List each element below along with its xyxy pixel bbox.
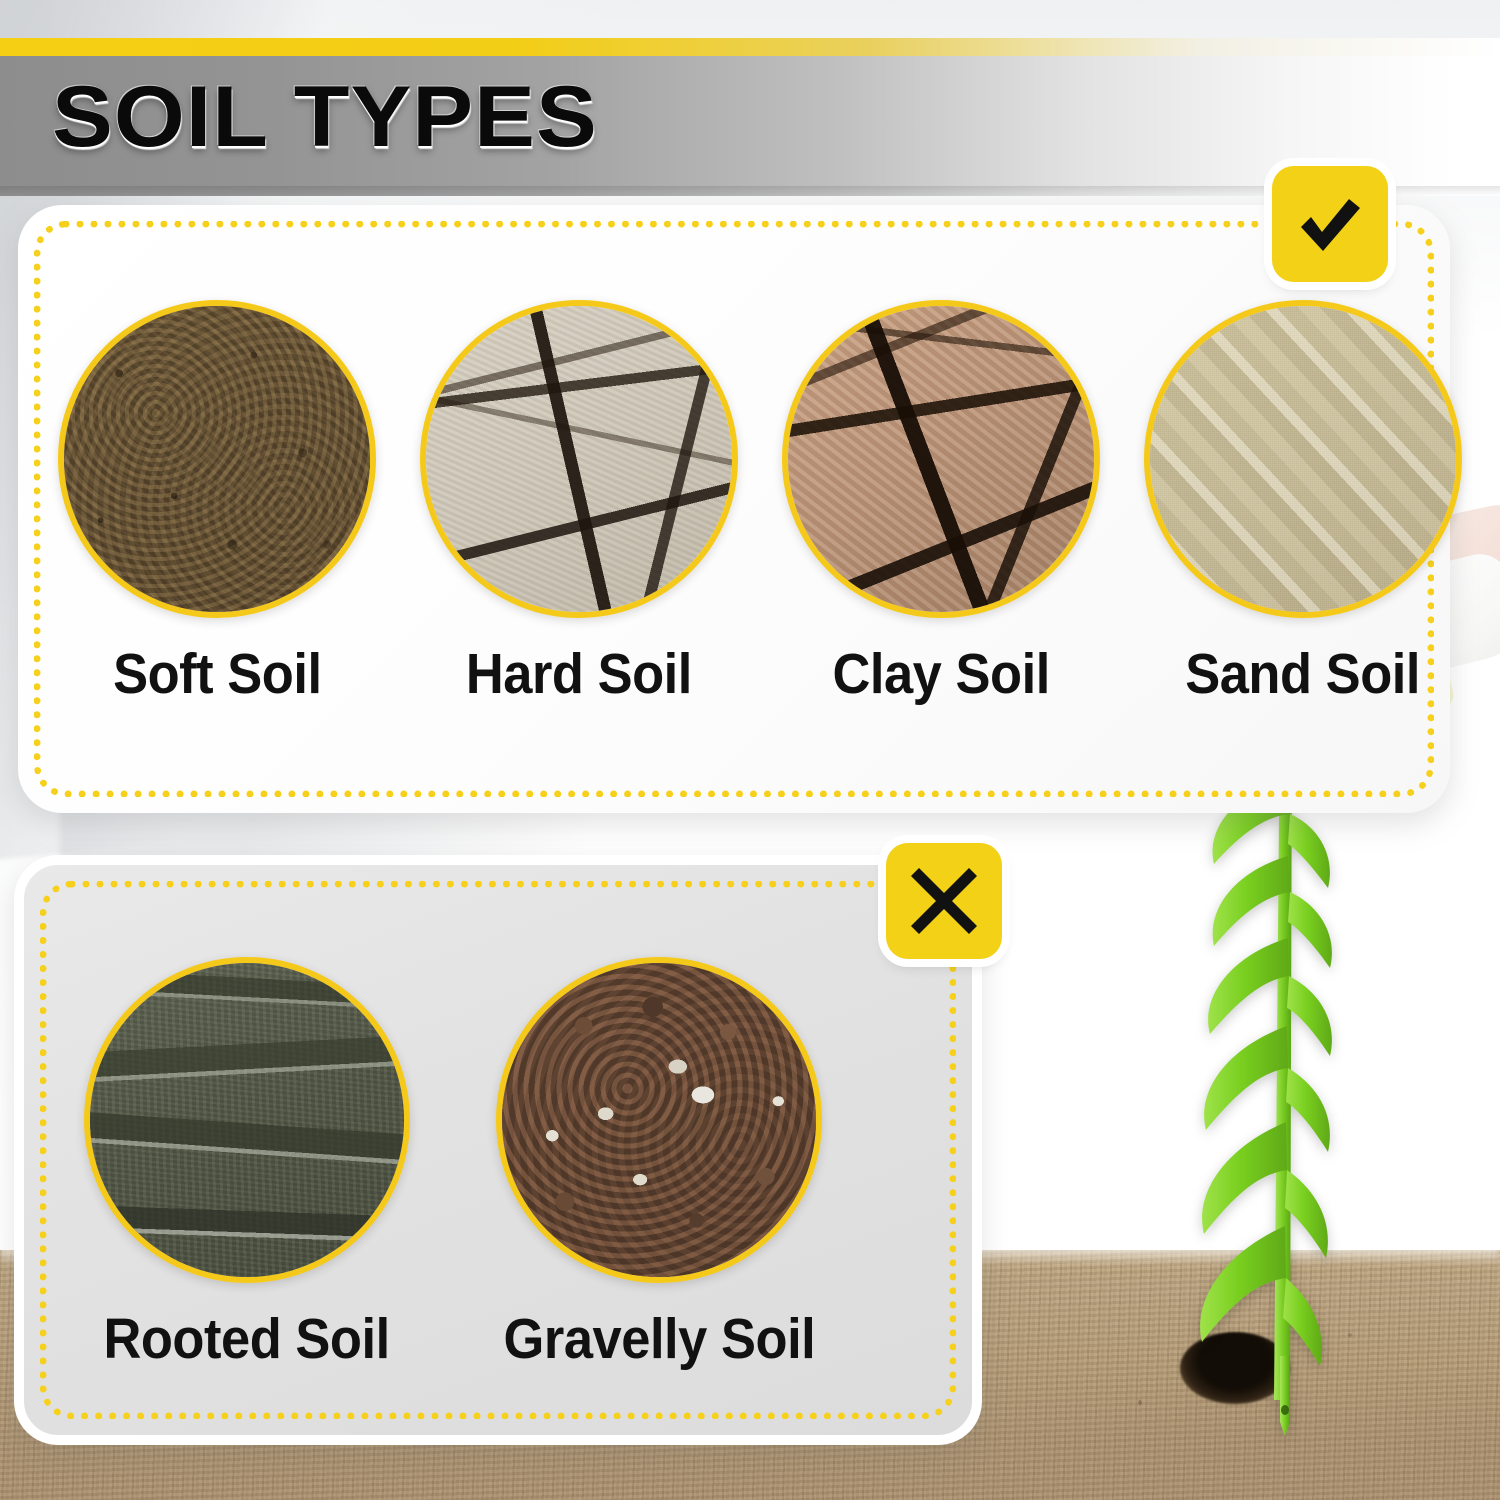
soil-label: Sand Soil xyxy=(1186,644,1421,704)
cross-badge xyxy=(886,843,1002,959)
rooted-soil-image xyxy=(84,957,410,1283)
soft-soil-image xyxy=(58,300,376,618)
check-icon xyxy=(1291,185,1369,263)
soil-label: Soft Soil xyxy=(113,644,322,704)
soil-label: Rooted Soil xyxy=(104,1309,390,1369)
soil-item-clay-soil[interactable]: Clay Soil xyxy=(782,300,1100,704)
clay-soil-image xyxy=(782,300,1100,618)
soil-item-soft-soil[interactable]: Soft Soil xyxy=(58,300,376,704)
unsuitable-soils-card: Rooted Soil Gravelly Soil xyxy=(14,855,982,1445)
soil-label: Gravelly Soil xyxy=(504,1309,816,1369)
soil-label: Hard Soil xyxy=(466,644,692,704)
sand-soil-image xyxy=(1144,300,1462,618)
suitable-soils-card: Soft Soil Hard Soil Clay Soil Sand Soil xyxy=(18,205,1450,813)
soil-item-rooted-soil[interactable]: Rooted Soil xyxy=(84,957,410,1369)
unsuitable-soils-row: Rooted Soil Gravelly Soil xyxy=(84,957,944,1369)
page-title: SOIL TYPES xyxy=(52,74,598,160)
infographic-canvas: SOIL TYPES Soft Soil Hard Soil xyxy=(0,0,1500,1500)
hard-soil-image xyxy=(420,300,738,618)
soil-label: Clay Soil xyxy=(832,644,1049,704)
soil-item-hard-soil[interactable]: Hard Soil xyxy=(420,300,738,704)
header-accent-stripe xyxy=(0,38,1500,56)
soil-item-sand-soil[interactable]: Sand Soil xyxy=(1144,300,1462,704)
suitable-soils-row: Soft Soil Hard Soil Clay Soil Sand Soil xyxy=(58,300,1428,704)
gravelly-soil-image xyxy=(496,957,822,1283)
check-badge xyxy=(1272,166,1388,282)
header-banner: SOIL TYPES xyxy=(0,38,1500,198)
close-icon xyxy=(907,864,981,938)
soil-item-gravelly-soil[interactable]: Gravelly Soil xyxy=(490,957,829,1369)
spiral-auger-bit xyxy=(1140,760,1400,1460)
